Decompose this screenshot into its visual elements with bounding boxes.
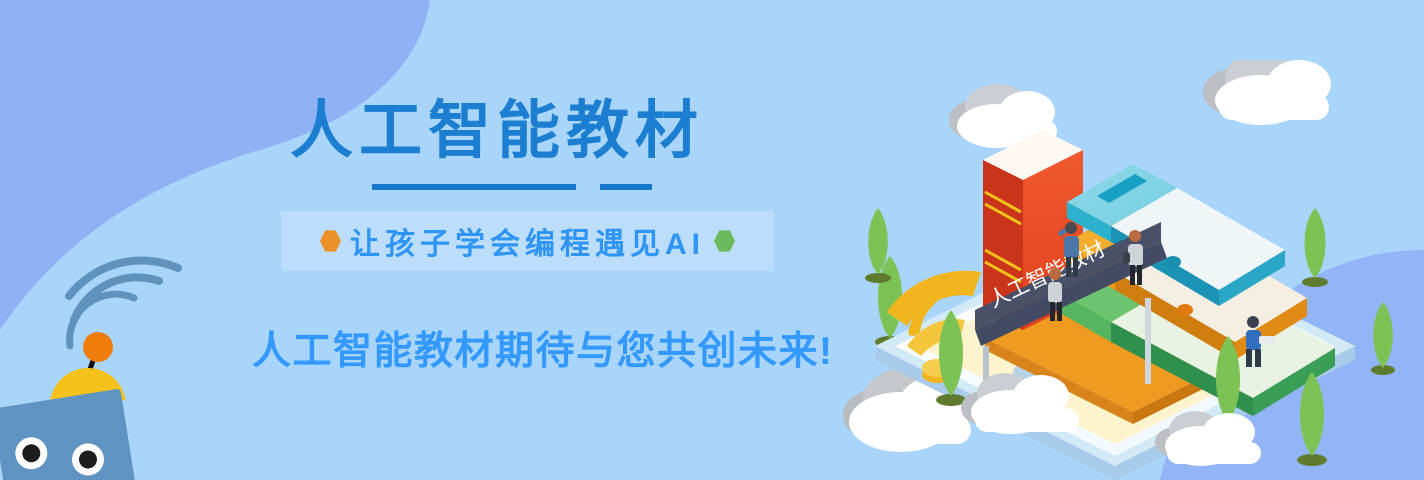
- tree-icon-front-5: [1371, 302, 1395, 375]
- promo-banner: 人工智能教材 让孩子学会编程遇见AI 人工智能教材期待与您共创未来!: [0, 0, 1424, 480]
- signboard-post-right: [1145, 298, 1151, 384]
- tree-icon-right-back: [1302, 208, 1328, 287]
- robot-antenna-ball: [83, 332, 113, 362]
- book-clasp-teal: [1165, 256, 1181, 268]
- isometric-books-illustration: 人工智能教材: [815, 60, 1424, 480]
- robot-mascot-icon: [0, 248, 192, 480]
- robot-head: [0, 389, 138, 480]
- book-clasp-orange: [1177, 304, 1193, 316]
- wifi-signal-icon: [69, 260, 178, 346]
- cloud-icon-back-3: [1203, 60, 1331, 125]
- person-figure-4: [1048, 268, 1062, 321]
